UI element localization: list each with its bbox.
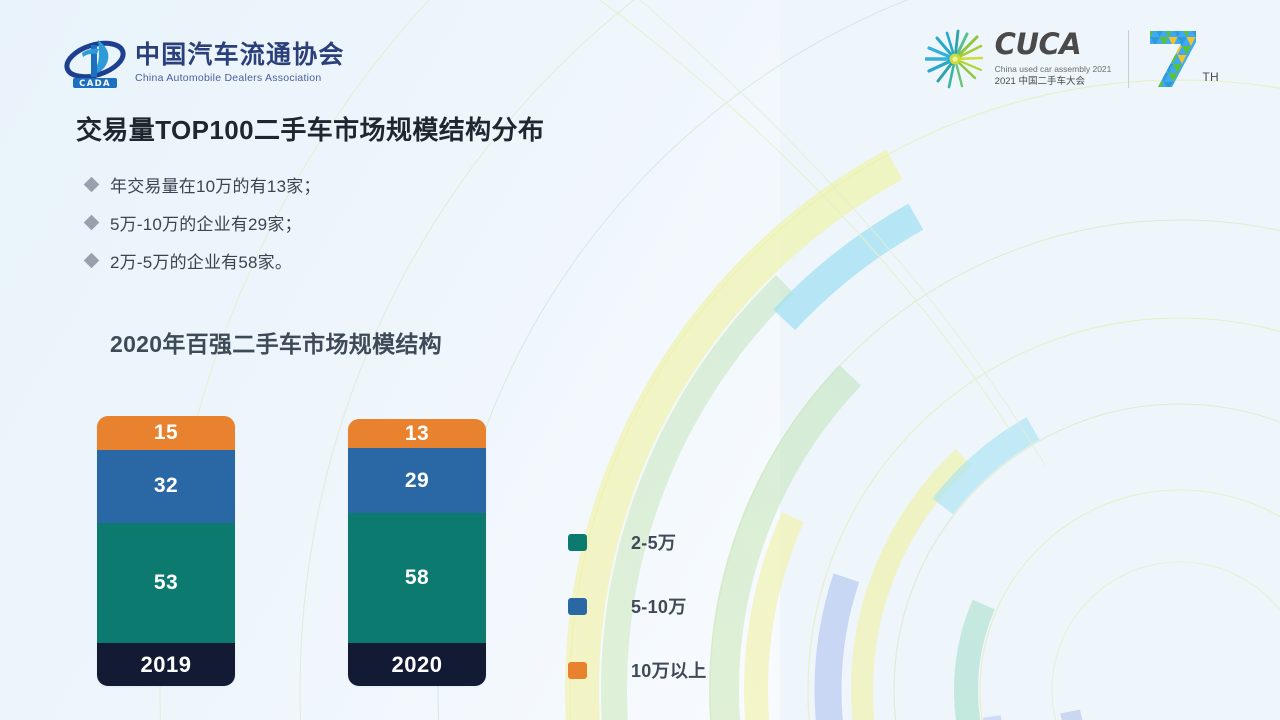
- legend-swatch: [568, 598, 587, 615]
- bar-year-label: 2019: [97, 643, 235, 686]
- legend-item: 2-5万: [568, 510, 707, 574]
- stacked-bar-chart: 15 32 53 2019 13 29 58 2020 2-5万 5-10万 1: [0, 0, 1280, 720]
- bar-year-label: 2020: [348, 643, 486, 686]
- legend-item: 10万以上: [568, 638, 707, 702]
- legend-swatch: [568, 534, 587, 551]
- bar-column-2019: 15 32 53 2019: [97, 416, 235, 686]
- bar-segment-top: 15: [97, 416, 235, 450]
- bar-segment-mid: 29: [348, 448, 486, 513]
- bar-segment-bottom: 53: [97, 523, 235, 643]
- legend-label: 5-10万: [631, 593, 687, 619]
- slide-root: CADA 中国汽车流通协会 China Automobile Dealers A…: [0, 0, 1280, 720]
- bar-segment-bottom: 58: [348, 513, 486, 643]
- legend-label: 2-5万: [631, 529, 676, 555]
- legend-swatch: [568, 662, 587, 679]
- bar-segment-mid: 32: [97, 450, 235, 523]
- bar-segment-top: 13: [348, 419, 486, 448]
- bar-column-2020: 13 29 58 2020: [348, 419, 486, 686]
- legend-item: 5-10万: [568, 574, 707, 638]
- legend-label: 10万以上: [631, 657, 707, 683]
- chart-legend: 2-5万 5-10万 10万以上: [568, 510, 707, 702]
